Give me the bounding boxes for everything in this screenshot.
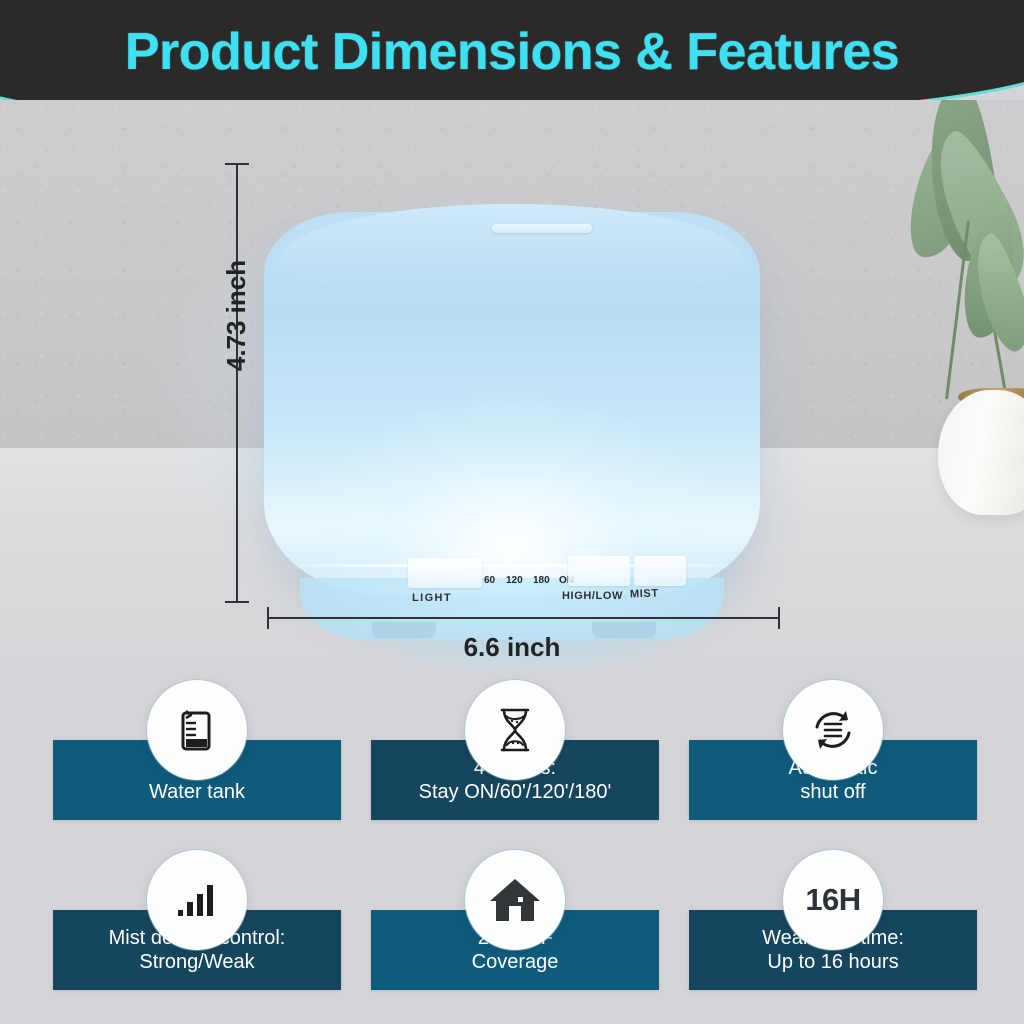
water-tank-icon [147,680,247,780]
feature-card-auto-shutoff: Automatic shut off [689,672,977,832]
timer-led [540,566,544,570]
page-title: Product Dimensions & Features [0,22,1024,82]
width-dimension-line [267,617,780,619]
signal-bars-icon [147,850,247,950]
hourglass-icon [465,680,565,780]
timer-label-120: 120 [506,575,523,586]
timer-led [490,566,494,570]
feature-card-water-tank: 500ml Water tank [53,672,341,832]
timer-indicators: 60 120 180 ON [486,566,572,600]
height-dimension-cap-bottom [225,601,249,603]
feature-line-2: Stay ON/60'/120'/180' [419,780,612,804]
height-dimension-cap-top [225,163,249,165]
height-dimension-label: 4.73 inch [221,260,252,371]
feature-line-2: Up to 16 hours [762,950,904,974]
house-icon [465,850,565,950]
auto-shutoff-icon [783,680,883,780]
device-control-panel: LIGHT 60 120 180 ON HIGH/LOW MIST [264,160,760,600]
width-dimension-cap-left [267,607,269,629]
timer-label-180: 180 [533,575,550,586]
feature-card-mist-density: Mist density control: Strong/Weak [53,842,341,1002]
height-dimension-line [236,163,238,603]
width-dimension-cap-right [778,607,780,629]
feature-card-coverage: 25-30m² Coverage [371,842,659,1002]
hours-badge-text: 16H [805,882,860,918]
width-dimension-label: 6.6 inch [0,632,1024,663]
feature-grid: 500ml Water tank 4 Timers: Stay ON/60'/1… [0,672,1024,1024]
light-button[interactable] [408,558,482,588]
hours-badge: 16H [783,850,883,950]
product-photo-scene: LIGHT 60 120 180 ON HIGH/LOW MIST [0,100,1024,670]
high-low-button-label: HIGH/LOW [562,590,623,602]
timer-label-60: 60 [484,575,495,586]
feature-line-2: shut off [789,780,878,804]
feature-line-2: Coverage [472,950,559,974]
feature-card-weak-mist-time: Weak mist time: Up to 16 hours 16H [689,842,977,1002]
high-low-button[interactable] [568,556,630,586]
light-button-label: LIGHT [412,592,452,604]
mist-button[interactable] [634,556,686,586]
mist-button-label: MIST [630,588,659,601]
feature-line-2: Strong/Weak [109,950,286,974]
feature-line-2: Water tank [149,780,245,804]
timer-led [514,566,518,570]
feature-card-timers: 4 Timers: Stay ON/60'/120'/180' [371,672,659,832]
